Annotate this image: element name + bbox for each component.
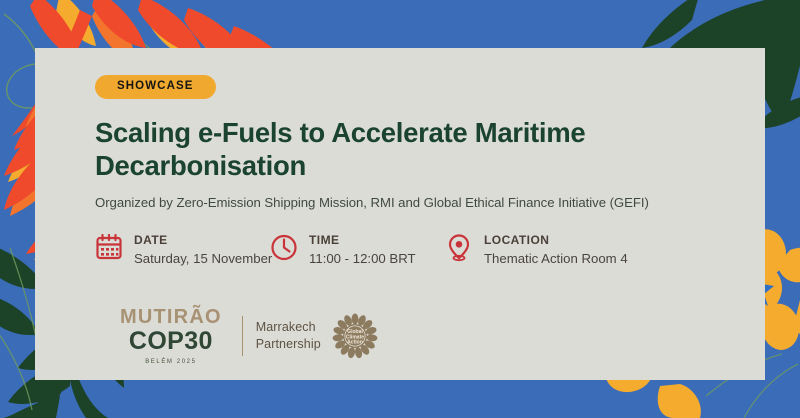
detail-time-label: TIME xyxy=(309,233,416,248)
detail-location: LOCATION Thematic Action Room 4 xyxy=(445,232,628,267)
calendar-icon xyxy=(95,232,123,262)
location-pin-icon xyxy=(445,232,473,262)
belem-2025-text: BELÉM 2025 xyxy=(120,359,222,365)
logo-divider xyxy=(242,316,243,356)
mutirao-wordmark: MUTIRÃO xyxy=(120,307,222,327)
detail-time-value: 11:00 - 12:00 BRT xyxy=(309,250,416,267)
detail-location-label: LOCATION xyxy=(484,233,628,248)
clock-icon xyxy=(270,232,298,262)
detail-date-text: DATE Saturday, 15 November xyxy=(134,232,272,267)
event-details-row: DATE Saturday, 15 November TIME 11:00 - … xyxy=(95,232,755,267)
marrakech-line-1: Marrakech xyxy=(256,319,321,336)
detail-date: DATE Saturday, 15 November xyxy=(95,232,270,267)
detail-time: TIME 11:00 - 12:00 BRT xyxy=(270,232,445,267)
marrakech-line-2: Partnership xyxy=(256,336,321,353)
detail-location-value: Thematic Action Room 4 xyxy=(484,250,628,267)
detail-date-value: Saturday, 15 November xyxy=(134,250,272,267)
detail-time-text: TIME 11:00 - 12:00 BRT xyxy=(309,232,416,267)
detail-date-label: DATE xyxy=(134,233,272,248)
card-content: SHOWCASE Scaling e-Fuels to Accelerate M… xyxy=(95,75,755,268)
event-title: Scaling e-Fuels to Accelerate Maritime D… xyxy=(95,116,715,183)
emblem-line-3: Action xyxy=(347,339,363,345)
cop30-logo: MUTIRÃO COP30 BELÉM 2025 xyxy=(120,307,222,365)
event-poster: SHOWCASE Scaling e-Fuels to Accelerate M… xyxy=(0,0,800,418)
global-climate-action-emblem: Global Climate Action xyxy=(332,313,378,359)
detail-location-text: LOCATION Thematic Action Room 4 xyxy=(484,232,628,267)
event-organizers: Organized by Zero-Emission Shipping Miss… xyxy=(95,194,755,212)
showcase-badge: SHOWCASE xyxy=(95,75,216,99)
logo-lockup: MUTIRÃO COP30 BELÉM 2025 Marrakech Partn… xyxy=(120,307,378,365)
cop30-wordmark: COP30 xyxy=(120,328,222,355)
marrakech-partnership-wordmark: Marrakech Partnership xyxy=(256,319,321,353)
